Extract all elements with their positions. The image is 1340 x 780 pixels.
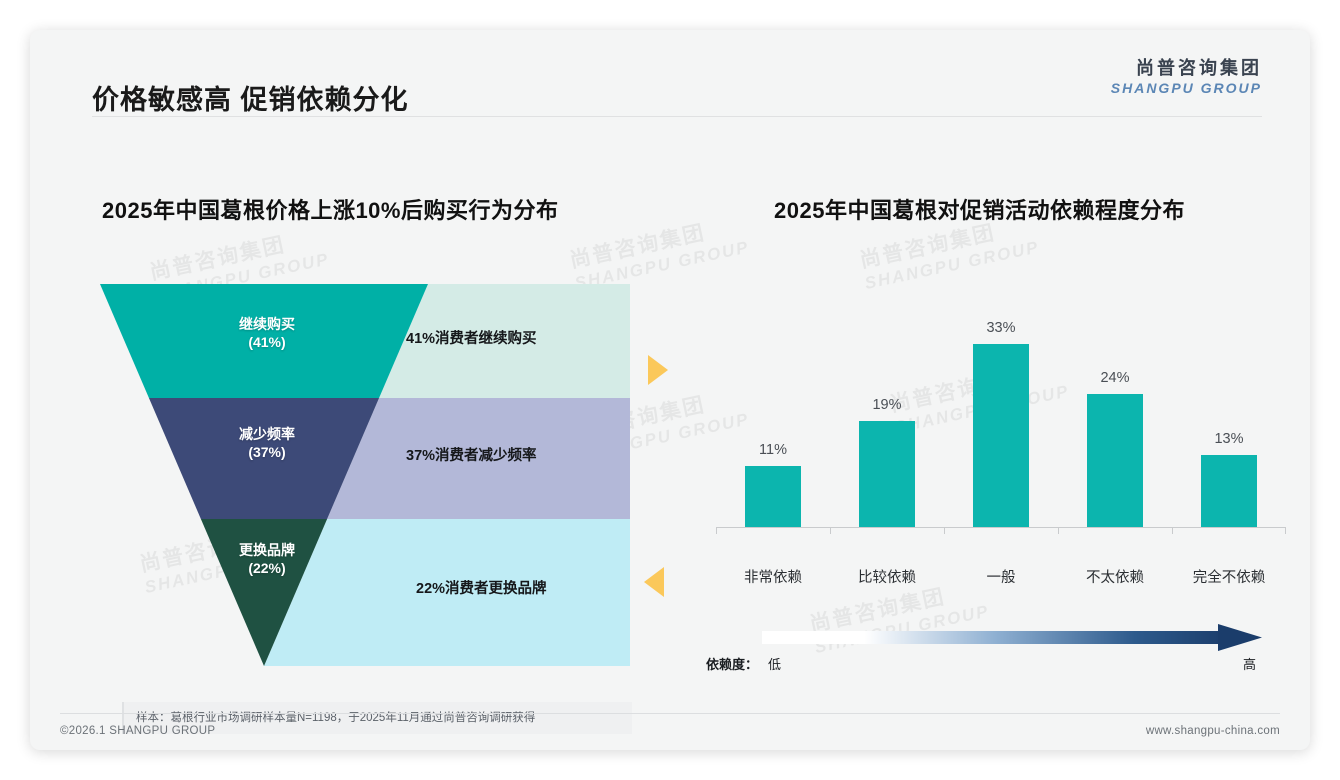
gradient-arrow-icon: [706, 622, 1286, 662]
funnel-side-text-3: 22%消费者更换品牌: [416, 577, 547, 598]
axis-tick: [1285, 528, 1286, 534]
bar-value-label: 13%: [1214, 431, 1243, 447]
bar-plot-region: 11% 19% 33% 24% 13%: [716, 298, 1286, 563]
axis-tick: [716, 528, 717, 534]
x-axis-label: 不太依赖: [1058, 566, 1172, 587]
bar-rect[interactable]: [745, 466, 801, 527]
bar-value-label: 24%: [1100, 370, 1129, 386]
axis-tick: [1172, 528, 1173, 534]
footer-divider: [60, 713, 1280, 714]
x-axis-line: [716, 527, 1286, 528]
bar-column[interactable]: 19%: [830, 397, 944, 527]
funnel-label-1: 继续购买 (41%): [202, 316, 332, 352]
funnel-side-text-1: 41%消费者继续购买: [406, 327, 537, 348]
legend-high-label: 高: [1243, 654, 1256, 673]
bar-rect[interactable]: [1201, 455, 1257, 527]
bar-rect[interactable]: [973, 344, 1029, 527]
bar-column[interactable]: 33%: [944, 320, 1058, 527]
arrow-right-marker-icon: [648, 355, 668, 385]
bar-column[interactable]: 11%: [716, 442, 830, 527]
page-title: 价格敏感高 促销依赖分化: [92, 78, 409, 117]
legend-low-label: 低: [768, 654, 781, 673]
axis-tick: [830, 528, 831, 534]
bar-value-label: 11%: [759, 442, 787, 458]
left-chart-title: 2025年中国葛根价格上涨10%后购买行为分布: [102, 193, 558, 225]
bar-column[interactable]: 24%: [1058, 370, 1172, 527]
logo-chinese-text: 尚普咨询集团: [1111, 58, 1262, 80]
bar-value-label: 33%: [986, 320, 1015, 336]
logo-english-text: SHANGPU GROUP: [1111, 80, 1262, 98]
arrow-left-marker-icon: [644, 567, 664, 597]
footer-website[interactable]: www.shangpu-china.com: [1146, 725, 1280, 737]
right-chart-title: 2025年中国葛根对促销活动依赖程度分布: [774, 193, 1185, 225]
funnel-side-text-2: 37%消费者减少频率: [406, 444, 537, 465]
bar-value-label: 19%: [872, 397, 901, 413]
bar-chart: 11% 19% 33% 24% 13% 非常依赖 比较依赖 一般 不太依赖: [716, 298, 1286, 598]
dependency-gradient-legend: 依赖度： 低 高: [706, 622, 1286, 684]
slide-card: 价格敏感高 促销依赖分化 尚普咨询集团 SHANGPU GROUP 尚普咨询集团…: [30, 30, 1310, 750]
x-axis-label: 完全不依赖: [1172, 566, 1286, 587]
bar-rect[interactable]: [1087, 394, 1143, 527]
bar-rect[interactable]: [859, 421, 915, 527]
funnel-svg: [92, 266, 652, 686]
bar-column[interactable]: 13%: [1172, 431, 1286, 527]
slide-header: 价格敏感高 促销依赖分化 尚普咨询集团 SHANGPU GROUP: [30, 30, 1310, 120]
x-axis-label: 一般: [944, 566, 1058, 587]
header-divider: [92, 116, 1262, 117]
x-axis-label: 非常依赖: [716, 566, 830, 587]
funnel-chart: 继续购买 (41%) 减少频率 (37%) 更换品牌 (22%) 41%消费者继…: [92, 266, 652, 686]
axis-tick: [1058, 528, 1059, 534]
brand-logo: 尚普咨询集团 SHANGPU GROUP: [1111, 58, 1262, 97]
footer-copyright: ©2026.1 SHANGPU GROUP: [60, 725, 215, 737]
funnel-label-2: 减少频率 (37%): [202, 426, 332, 462]
funnel-label-3: 更换品牌 (22%): [202, 542, 332, 578]
legend-caption: 依赖度：: [706, 654, 758, 673]
x-axis-label: 比较依赖: [830, 566, 944, 587]
axis-tick: [944, 528, 945, 534]
